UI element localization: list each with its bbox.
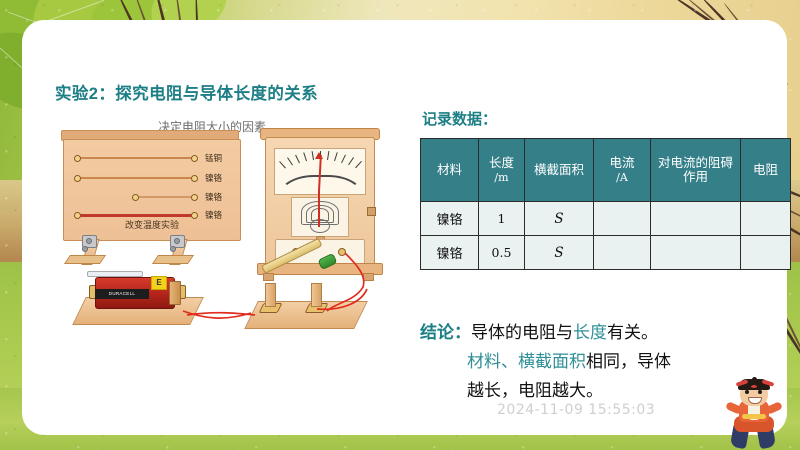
- conclusion-line2-keyword: 材料、横截面积: [467, 352, 586, 371]
- circuit-wires: [55, 135, 400, 350]
- page-title: 实验2：探究电阻与导体长度的关系: [55, 80, 318, 104]
- column-header-current: 电流 /A: [594, 139, 651, 202]
- timestamp-watermark: 2024-11-09 15:55:03: [497, 402, 655, 418]
- header-text: 长度: [489, 156, 514, 170]
- header-unit: /A: [616, 171, 628, 184]
- wire-meter-to-switch: [327, 253, 364, 311]
- cell-resistance: [741, 236, 791, 270]
- table-row: 镍铬 0.5 S: [421, 236, 791, 270]
- header-unit: /m: [494, 171, 508, 184]
- conclusion-line-1: 结论：导体的电阻与长度有关。: [420, 318, 792, 347]
- column-header-resistance: 电阻: [741, 139, 791, 202]
- table-row: 镍铬 1 S: [421, 202, 791, 236]
- cell-length: 1: [479, 202, 525, 236]
- column-header-cross-section-area: 横截面积: [525, 139, 594, 202]
- conclusion-label: 结论：: [420, 323, 471, 342]
- cell-material: 镍铬: [421, 236, 479, 270]
- cell-length: 0.5: [479, 236, 525, 270]
- mascot-belt: [742, 414, 766, 419]
- cell-resistance: [741, 202, 791, 236]
- mascot-eye-right: [758, 390, 762, 394]
- cell-obstruction: [651, 236, 741, 270]
- experiment-apparatus-illustration: 改变温度实验 锰铜 镍铬 镍铬 镍铬: [55, 135, 400, 350]
- cell-current: [594, 202, 651, 236]
- conclusion-line2-b: 相同，导体: [586, 352, 671, 371]
- column-header-material: 材料: [421, 139, 479, 202]
- table-header-row: 材料 长度 /m 横截面积 电流 /A 对电流的阻碍作用 电阻: [421, 139, 791, 202]
- cell-area: S: [525, 236, 594, 270]
- cell-material: 镍铬: [421, 202, 479, 236]
- cell-area: S: [525, 202, 594, 236]
- mascot-eye-left: [745, 390, 749, 394]
- mascot-hair-tuft: [752, 377, 757, 383]
- conclusion-line-2: 材料、横截面积相同，导体: [420, 347, 792, 376]
- conclusion-line1-keyword: 长度: [573, 323, 607, 342]
- column-header-current-obstruction: 对电流的阻碍作用: [651, 139, 741, 202]
- mascot-character: [722, 378, 786, 450]
- header-text: 对电流的阻碍作用: [658, 156, 733, 184]
- conclusion-line1-b: 有关。: [607, 323, 658, 342]
- record-data-label: 记录数据：: [422, 108, 497, 129]
- header-text: 电流: [609, 156, 634, 170]
- cell-current: [594, 236, 651, 270]
- header-text: 横截面积: [534, 163, 584, 177]
- experiment-data-table: 材料 长度 /m 横截面积 电流 /A 对电流的阻碍作用 电阻 镍铬 1: [420, 138, 791, 270]
- cell-obstruction: [651, 202, 741, 236]
- header-text: 材料: [437, 163, 462, 177]
- header-text: 电阻: [753, 163, 778, 177]
- column-header-length: 长度 /m: [479, 139, 525, 202]
- mascot-forehead-mark: [751, 385, 757, 388]
- conclusion-line1-a: 导体的电阻与: [471, 323, 573, 342]
